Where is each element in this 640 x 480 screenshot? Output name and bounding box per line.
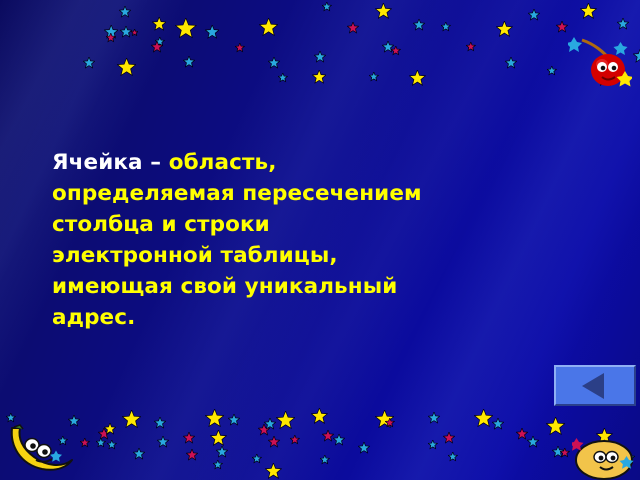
star-icon <box>252 454 262 464</box>
star-icon <box>235 43 245 53</box>
star-icon <box>314 51 326 63</box>
definition-text: область, определяемая пересечением столб… <box>52 150 422 330</box>
star-icon <box>409 70 426 87</box>
star-icon <box>492 418 504 430</box>
star-icon <box>154 417 166 429</box>
star-icon <box>312 70 326 84</box>
star-icon <box>6 413 16 423</box>
star-icon <box>210 430 227 447</box>
term-dash: – <box>143 150 169 175</box>
star-icon <box>617 18 629 30</box>
star-icon <box>216 446 228 458</box>
star-icon <box>276 411 295 430</box>
star-icon <box>320 455 330 465</box>
star-icon <box>278 73 288 83</box>
star-icon <box>80 438 90 448</box>
star-icon <box>213 460 223 470</box>
star-icon <box>443 432 455 444</box>
triangle-left-icon <box>582 373 604 399</box>
star-icon <box>152 17 166 31</box>
star-icon <box>259 18 278 37</box>
star-icon <box>546 417 565 436</box>
star-icon <box>347 22 359 34</box>
star-icon <box>375 3 392 20</box>
star-icon <box>106 33 116 43</box>
star-icon <box>264 418 276 430</box>
star-icon <box>527 436 539 448</box>
star-icon <box>131 29 138 36</box>
star-icon <box>268 436 280 448</box>
star-icon <box>157 436 169 448</box>
star-icon <box>96 438 106 448</box>
star-icon <box>474 409 493 428</box>
star-icon <box>560 448 570 458</box>
star-icon <box>183 432 195 444</box>
star-icon <box>448 452 458 462</box>
star-icon <box>333 434 345 446</box>
star-icon <box>183 56 195 68</box>
slide-body-text: Ячейка – область, определяемая пересечен… <box>52 147 552 333</box>
star-icon <box>205 25 219 39</box>
star-icon <box>369 72 379 82</box>
star-icon <box>428 412 440 424</box>
star-icon <box>466 42 476 52</box>
star-icon <box>265 463 282 480</box>
star-icon <box>122 410 141 429</box>
star-icon <box>358 442 370 454</box>
star-icon <box>528 9 540 21</box>
star-icon <box>441 22 451 32</box>
star-icon <box>107 440 117 450</box>
banana-character <box>2 424 78 480</box>
star-icon <box>83 57 95 69</box>
star-icon <box>413 19 425 31</box>
defined-term: Ячейка <box>52 150 143 175</box>
star-icon <box>428 440 438 450</box>
star-icon <box>268 57 280 69</box>
star-icon <box>133 448 145 460</box>
star-icon <box>186 449 198 461</box>
star-icon <box>119 6 131 18</box>
star-icon <box>311 408 328 425</box>
star-icon <box>385 418 395 428</box>
star-icon <box>151 41 163 53</box>
star-icon <box>633 49 640 63</box>
star-icon <box>496 21 513 38</box>
star-icon <box>117 58 136 77</box>
star-icon <box>322 2 332 12</box>
star-icon <box>175 18 197 40</box>
star-icon <box>104 423 116 435</box>
back-button[interactable] <box>554 365 636 406</box>
star-icon <box>505 57 517 69</box>
star-icon <box>290 435 300 445</box>
lemon-character <box>572 436 640 480</box>
star-icon <box>556 21 568 33</box>
star-icon <box>547 66 557 76</box>
cherry-character <box>568 34 632 92</box>
star-icon <box>228 414 240 426</box>
star-icon <box>580 3 597 20</box>
presentation-slide: Ячейка – область, определяемая пересечен… <box>0 0 640 480</box>
star-icon <box>391 46 401 56</box>
star-icon <box>205 409 224 428</box>
